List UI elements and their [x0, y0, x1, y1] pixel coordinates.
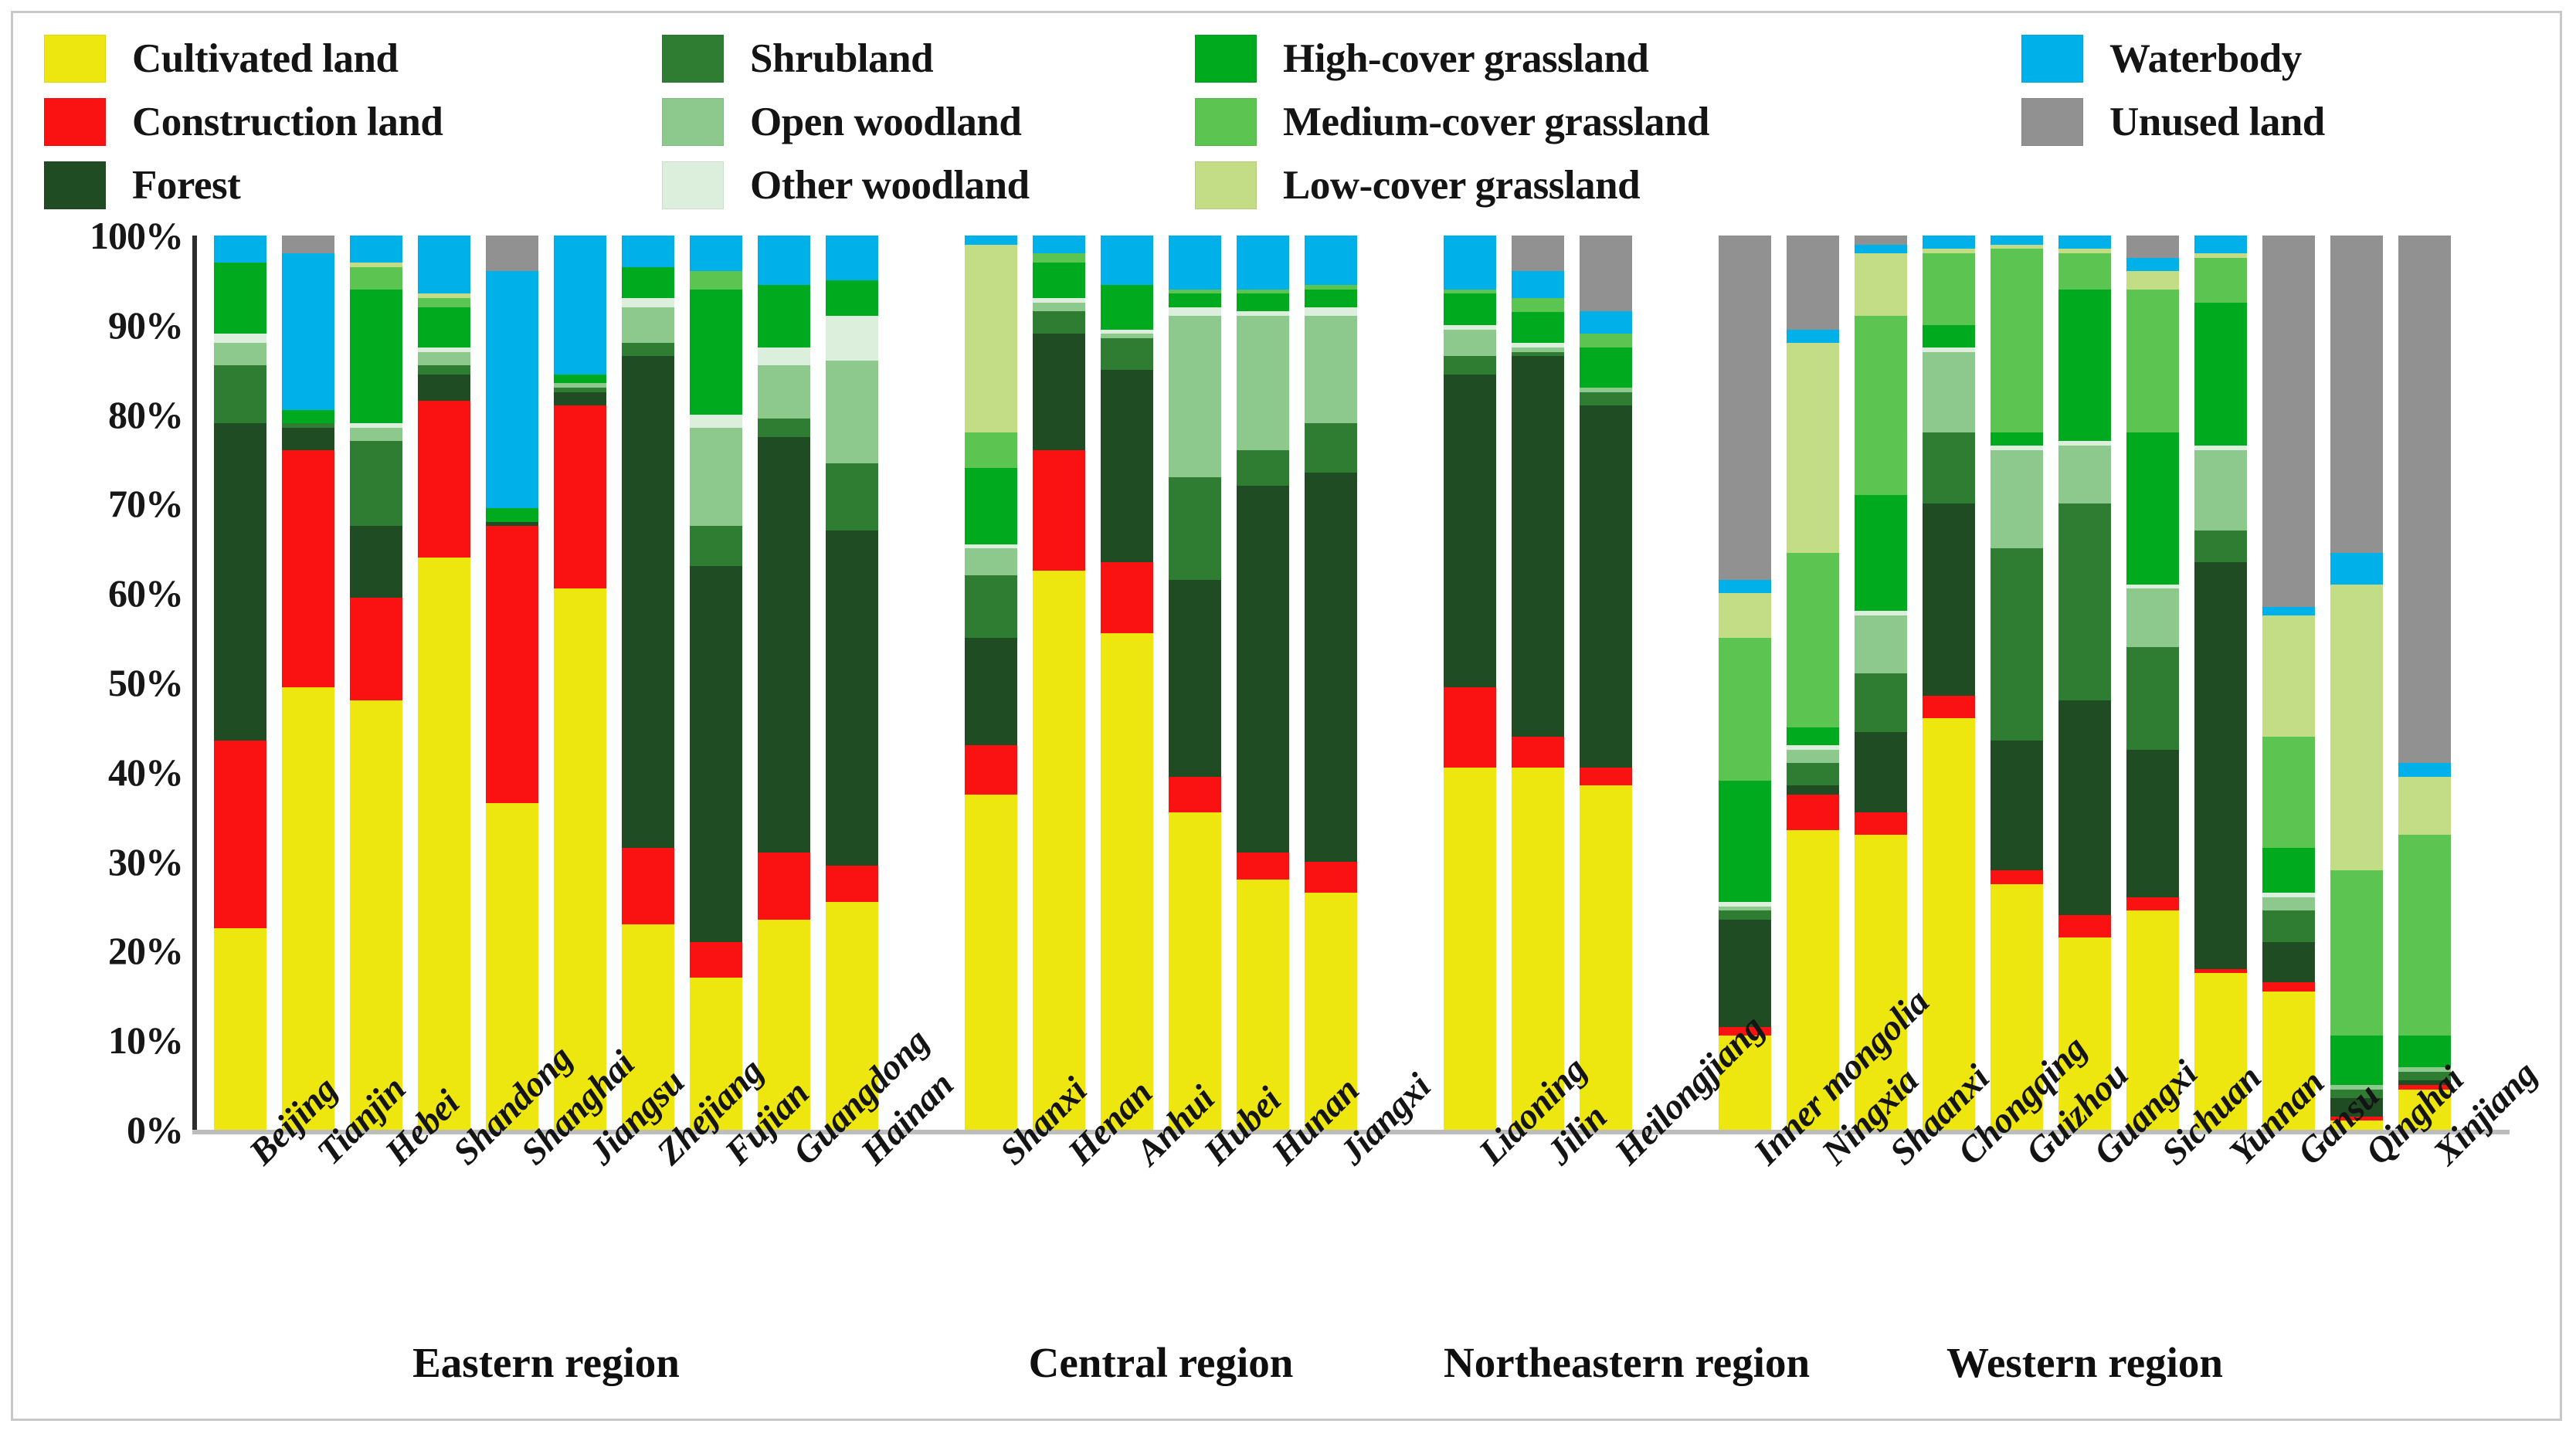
segment-construction	[282, 450, 334, 687]
y-tick-label: 100%	[90, 213, 183, 258]
segment-medium_grass	[2398, 835, 2451, 1036]
segment-water	[2194, 236, 2247, 253]
segment-forest	[350, 526, 402, 598]
bar-ningxia[interactable]	[1787, 236, 1839, 1130]
segment-low_grass	[2126, 271, 2179, 289]
segment-construction	[1923, 696, 1975, 718]
legend-label-unused: Unused land	[2109, 102, 2325, 143]
segment-construction	[1991, 870, 2043, 883]
segment-shrubland	[1580, 392, 1632, 405]
segment-unused	[1855, 236, 1907, 245]
legend-swatch-cultivated	[44, 35, 106, 83]
segment-high_grass	[1305, 290, 1357, 307]
y-tick-label: 60%	[108, 571, 183, 615]
segment-other_woodland	[758, 347, 810, 365]
region-labels: Eastern regionCentral regionNortheastern…	[197, 1338, 2510, 1408]
segment-high_grass	[690, 290, 742, 415]
segment-forest	[1855, 732, 1907, 812]
segment-forest	[622, 356, 674, 848]
segment-shrubland	[1305, 423, 1357, 473]
segment-high_grass	[1169, 293, 1221, 307]
segment-medium_grass	[2058, 253, 2111, 289]
stacked-bars	[197, 236, 2510, 1130]
segment-low_grass	[1787, 343, 1839, 553]
legend-swatch-high_grass	[1195, 35, 1257, 83]
segment-construction	[350, 598, 402, 700]
legend-label-construction: Construction land	[132, 102, 443, 143]
segment-construction	[1444, 687, 1496, 768]
bar-hainan[interactable]	[826, 236, 878, 1130]
segment-water	[486, 271, 538, 508]
segment-shrubland	[1444, 356, 1496, 374]
legend-swatch-other_woodland	[662, 161, 724, 209]
segment-water	[282, 253, 334, 410]
legend-swatch-unused	[2021, 98, 2083, 146]
segment-low_grass	[1855, 253, 1907, 316]
segment-open_woodland	[214, 343, 266, 365]
segment-open_woodland	[2194, 450, 2247, 531]
legend-item-cultivated[interactable]: Cultivated land	[44, 35, 662, 83]
y-tick-label: 20%	[108, 928, 183, 973]
segment-high_grass	[1991, 432, 2043, 446]
y-tick-label: 30%	[108, 839, 183, 884]
segment-low_grass	[1719, 593, 1771, 638]
segment-high_grass	[622, 267, 674, 299]
segment-water	[214, 236, 266, 263]
segment-forest	[1237, 486, 1289, 853]
bar-beijing[interactable]	[214, 236, 266, 1130]
bar-shanghai[interactable]	[486, 236, 538, 1130]
segment-shrubland	[758, 419, 810, 436]
segment-medium_grass	[1991, 249, 2043, 432]
segment-low_grass	[2398, 777, 2451, 835]
segment-water	[2330, 553, 2383, 585]
segment-unused	[1719, 236, 1771, 580]
segment-shrubland	[214, 365, 266, 423]
x-axis-labels: BeijingTianjinHebeiShandongShanghaiJiang…	[197, 1144, 2510, 1321]
segment-medium_grass	[2262, 737, 2315, 849]
segment-forest	[1444, 375, 1496, 687]
segment-low_grass	[2330, 585, 2383, 871]
segment-water	[1305, 236, 1357, 285]
segment-water	[758, 236, 810, 285]
segment-shrubland	[2126, 647, 2179, 750]
legend-label-water: Waterbody	[2109, 39, 2302, 80]
legend-swatch-low_grass	[1195, 161, 1257, 209]
segment-forest	[2194, 562, 2247, 969]
segment-water	[1444, 236, 1496, 289]
segment-medium_grass	[1512, 298, 1564, 311]
segment-construction	[622, 848, 674, 924]
segment-forest	[1033, 334, 1085, 450]
segment-other_woodland	[1305, 307, 1357, 317]
segment-construction	[418, 401, 470, 558]
segment-high_grass	[1719, 781, 1771, 901]
legend-label-cultivated: Cultivated land	[132, 39, 398, 80]
segment-construction	[1101, 562, 1153, 634]
segment-construction	[2126, 897, 2179, 910]
segment-shrubland	[826, 463, 878, 531]
y-tick-label: 80%	[108, 392, 183, 437]
segment-construction	[1512, 737, 1564, 768]
segment-cultivated	[350, 700, 402, 1130]
segment-water	[1787, 330, 1839, 343]
segment-water	[622, 236, 674, 267]
segment-shrubland	[690, 526, 742, 566]
segment-open_woodland	[1444, 330, 1496, 357]
segment-open_woodland	[1305, 316, 1357, 423]
y-tick-label: 70%	[108, 481, 183, 526]
segment-construction	[2058, 915, 2111, 937]
segment-medium_grass	[1923, 253, 1975, 325]
legend-swatch-open_woodland	[662, 98, 724, 146]
segment-open_woodland	[350, 428, 402, 441]
legend-item-shrubland[interactable]: Shrubland	[662, 35, 1195, 83]
segment-medium_grass	[965, 432, 1017, 468]
legend-swatch-medium_grass	[1195, 98, 1257, 146]
segment-medium_grass	[1787, 553, 1839, 727]
segment-high_grass	[1787, 727, 1839, 745]
segment-high_grass	[758, 285, 810, 347]
segment-other_woodland	[690, 415, 742, 428]
legend-label-other_woodland: Other woodland	[750, 165, 1030, 206]
segment-high_grass	[1444, 293, 1496, 325]
legend-item-unused[interactable]: Unused land	[2021, 98, 2454, 146]
segment-water	[350, 236, 402, 263]
segment-high_grass	[2262, 848, 2315, 893]
legend-label-medium_grass: Medium-cover grassland	[1283, 102, 1709, 143]
segment-high_grass	[2194, 303, 2247, 446]
segment-water	[1855, 245, 1907, 254]
segment-shrubland	[418, 365, 470, 375]
segment-shrubland	[1033, 311, 1085, 334]
segment-forest	[2262, 942, 2315, 982]
segment-construction	[486, 526, 538, 803]
segment-construction	[214, 741, 266, 928]
segment-high_grass	[486, 508, 538, 521]
bar-heilongjiang[interactable]	[1580, 236, 1632, 1130]
segment-water	[418, 236, 470, 293]
segment-unused	[2262, 236, 2315, 607]
segment-forest	[214, 423, 266, 741]
segment-forest	[690, 566, 742, 941]
bar-zhejiang[interactable]	[622, 236, 674, 1130]
segment-forest	[1580, 405, 1632, 768]
segment-shrubland	[1923, 432, 1975, 504]
bar-guangdong[interactable]	[758, 236, 810, 1130]
segment-open_woodland	[1033, 303, 1085, 312]
segment-water	[2126, 258, 2179, 271]
segment-shrubland	[1101, 338, 1153, 370]
segment-unused	[1787, 236, 1839, 330]
segment-high_grass	[2058, 290, 2111, 442]
legend-item-other_woodland[interactable]: Other woodland	[662, 161, 1195, 209]
region-label-eastern-region: Eastern region	[214, 1338, 878, 1387]
legend-swatch-construction	[44, 98, 106, 146]
bar-shanxi[interactable]	[965, 236, 1017, 1130]
segment-open_woodland	[1855, 615, 1907, 673]
y-tick-label: 90%	[108, 303, 183, 347]
segment-medium_grass	[2126, 290, 2179, 432]
legend-item-construction[interactable]: Construction land	[44, 98, 662, 146]
segment-high_grass	[554, 375, 606, 384]
legend-item-forest[interactable]: Forest	[44, 161, 662, 209]
segment-open_woodland	[1169, 316, 1221, 476]
region-label-northeastern-region: Northeastern region	[1444, 1338, 1632, 1387]
bar-guizhou[interactable]	[1991, 236, 2043, 1130]
segment-unused	[2398, 236, 2451, 763]
bar-yunnan[interactable]	[2194, 236, 2247, 1130]
segment-medium_grass	[690, 271, 742, 289]
legend-swatch-shrubland	[662, 35, 724, 83]
segment-shrubland	[1855, 673, 1907, 731]
segment-open_woodland	[2262, 897, 2315, 910]
segment-construction	[965, 745, 1017, 795]
plot-area: 0%10%20%30%40%50%60%70%80%90%100% Beijin…	[13, 220, 2564, 1421]
segment-open_woodland	[1923, 352, 1975, 432]
segment-high_grass	[1923, 325, 1975, 347]
segment-high_grass	[1033, 263, 1085, 298]
bar-henan[interactable]	[1033, 236, 1085, 1130]
segment-unused	[486, 236, 538, 271]
segment-water	[1512, 271, 1564, 298]
segment-forest	[2058, 700, 2111, 915]
legend-label-low_grass: Low-cover grassland	[1283, 165, 1640, 206]
segment-forest	[826, 531, 878, 866]
segment-high_grass	[965, 468, 1017, 544]
segment-high_grass	[1101, 285, 1153, 330]
segment-high_grass	[282, 410, 334, 423]
segment-water	[1719, 580, 1771, 593]
segment-construction	[1237, 853, 1289, 880]
segment-water	[2058, 236, 2111, 249]
segment-other_woodland	[214, 334, 266, 343]
segment-shrubland	[1719, 910, 1771, 920]
segment-open_woodland	[758, 365, 810, 419]
segment-cultivated	[418, 558, 470, 1130]
segment-shrubland	[965, 575, 1017, 638]
bar-chongqing[interactable]	[1923, 236, 1975, 1130]
segment-forest	[1305, 473, 1357, 862]
segment-water	[1580, 311, 1632, 334]
legend-item-water[interactable]: Waterbody	[2021, 35, 2454, 83]
legend-label-forest: Forest	[132, 165, 240, 206]
legend-label-high_grass: High-cover grassland	[1283, 39, 1648, 80]
segment-low_grass	[965, 245, 1017, 432]
segment-water	[1991, 236, 2043, 245]
segment-shrubland	[1787, 763, 1839, 785]
segment-unused	[282, 236, 334, 253]
y-axis: 0%10%20%30%40%50%60%70%80%90%100%	[56, 220, 192, 1128]
segment-construction	[1305, 862, 1357, 893]
bar-fujian[interactable]	[690, 236, 742, 1130]
segment-construction	[1787, 795, 1839, 830]
segment-cultivated	[1444, 768, 1496, 1130]
bar-inner-mongolia[interactable]	[1719, 236, 1771, 1130]
bar-jilin[interactable]	[1512, 236, 1564, 1130]
segment-forest	[554, 392, 606, 405]
segment-unused	[1580, 236, 1632, 311]
segment-shrubland	[622, 343, 674, 356]
bar-hebei[interactable]	[350, 236, 402, 1130]
segment-forest	[282, 428, 334, 450]
segment-medium_grass	[1580, 334, 1632, 347]
segment-medium_grass	[1855, 316, 1907, 495]
segment-water	[1101, 236, 1153, 285]
segment-construction	[1855, 812, 1907, 835]
legend-item-medium_grass[interactable]: Medium-cover grassland	[1195, 98, 2021, 146]
segment-high_grass	[1512, 312, 1564, 344]
segment-cultivated	[1033, 571, 1085, 1130]
segment-shrubland	[1991, 548, 2043, 741]
segment-water	[1923, 236, 1975, 249]
segment-construction	[1169, 777, 1221, 812]
segment-construction	[758, 853, 810, 920]
segment-medium_grass	[2194, 258, 2247, 303]
legend-item-high_grass[interactable]: High-cover grassland	[1195, 35, 2021, 83]
segment-other_woodland	[622, 298, 674, 307]
legend-swatch-forest	[44, 161, 106, 209]
y-tick-label: 0%	[127, 1107, 183, 1152]
segment-forest	[1512, 356, 1564, 736]
segment-unused	[1512, 236, 1564, 271]
segment-construction	[1033, 450, 1085, 571]
y-tick-label: 40%	[108, 750, 183, 795]
chart-legend: Cultivated landConstruction landForestSh…	[44, 27, 2531, 216]
segment-open_woodland	[690, 428, 742, 526]
segment-medium_grass	[350, 267, 402, 290]
bar-guangxi[interactable]	[2058, 236, 2111, 1130]
segment-forest	[1169, 580, 1221, 777]
segment-high_grass	[1580, 347, 1632, 388]
segment-water	[2262, 607, 2315, 616]
segment-open_woodland	[418, 352, 470, 365]
legend-item-open_woodland[interactable]: Open woodland	[662, 98, 1195, 146]
segment-open_woodland	[1787, 750, 1839, 763]
segment-open_woodland	[826, 361, 878, 463]
segment-forest	[1923, 503, 1975, 696]
segment-cultivated	[282, 687, 334, 1130]
segment-high_grass	[418, 307, 470, 347]
segment-water	[1169, 236, 1221, 289]
legend-swatch-water	[2021, 35, 2083, 83]
bar-hubei[interactable]	[1169, 236, 1221, 1130]
segment-shrubland	[2058, 503, 2111, 700]
bar-gansu[interactable]	[2262, 236, 2315, 1130]
segment-construction	[2262, 982, 2315, 992]
segment-water	[1033, 236, 1085, 253]
legend-label-open_woodland: Open woodland	[750, 102, 1021, 143]
segment-water	[690, 236, 742, 271]
segment-low_grass	[2262, 615, 2315, 736]
segment-high_grass	[1237, 293, 1289, 311]
region-label-western-region: Western region	[1719, 1338, 2451, 1387]
segment-forest	[418, 375, 470, 402]
bar-shandong[interactable]	[418, 236, 470, 1130]
bar-anhui[interactable]	[1101, 236, 1153, 1130]
segment-other_woodland	[826, 316, 878, 361]
segment-construction	[1580, 768, 1632, 785]
segment-medium_grass	[418, 298, 470, 307]
legend-label-shrubland: Shrubland	[750, 39, 933, 80]
segment-water	[1237, 236, 1289, 289]
segment-other_woodland	[1169, 307, 1221, 317]
segment-construction	[690, 942, 742, 978]
segment-forest	[2126, 750, 2179, 897]
segment-water	[965, 236, 1017, 245]
segment-medium_grass	[1033, 253, 1085, 263]
segment-cultivated	[965, 795, 1017, 1130]
segment-construction	[826, 866, 878, 901]
segment-high_grass	[214, 263, 266, 334]
bar-tianjin[interactable]	[282, 236, 334, 1130]
segment-shrubland	[350, 441, 402, 526]
segment-shrubland	[2194, 531, 2247, 562]
bar-jiangxi[interactable]	[1305, 236, 1357, 1130]
segment-water	[826, 236, 878, 280]
segment-construction	[554, 405, 606, 588]
segment-shrubland	[1237, 450, 1289, 486]
bar-xinjiang[interactable]	[2398, 236, 2451, 1130]
bar-hunan[interactable]	[1237, 236, 1289, 1130]
segment-open_woodland	[1991, 450, 2043, 548]
segment-open_woodland	[2126, 588, 2179, 646]
segment-cultivated	[214, 928, 266, 1130]
segment-high_grass	[2126, 432, 2179, 585]
segment-shrubland	[1169, 477, 1221, 580]
segment-open_woodland	[965, 548, 1017, 575]
y-tick-label: 10%	[108, 1018, 183, 1063]
segment-open_woodland	[1237, 316, 1289, 450]
segment-forest	[1991, 741, 2043, 870]
legend-item-low_grass[interactable]: Low-cover grassland	[1195, 161, 2021, 209]
region-label-central-region: Central region	[965, 1338, 1357, 1387]
segment-open_woodland	[622, 307, 674, 343]
bar-qinghai[interactable]	[2330, 236, 2383, 1130]
segment-water	[554, 236, 606, 374]
segment-shrubland	[2262, 910, 2315, 942]
chart-frame: Cultivated landConstruction landForestSh…	[11, 11, 2562, 1421]
segment-high_grass	[1855, 495, 1907, 612]
segment-high_grass	[826, 280, 878, 316]
segment-medium_grass	[1719, 638, 1771, 781]
segment-forest	[758, 437, 810, 853]
bar-jiangsu[interactable]	[554, 236, 606, 1130]
segment-forest	[1101, 370, 1153, 562]
segment-cultivated	[1101, 633, 1153, 1130]
segment-forest	[965, 638, 1017, 745]
segment-forest	[1787, 785, 1839, 795]
segment-high_grass	[350, 290, 402, 424]
y-tick-label: 50%	[108, 660, 183, 705]
segment-unused	[2330, 236, 2383, 553]
segment-medium_grass	[2330, 870, 2383, 1036]
segment-unused	[2126, 236, 2179, 258]
bar-liaoning[interactable]	[1444, 236, 1496, 1130]
segment-open_woodland	[2058, 446, 2111, 503]
bar-sichuan[interactable]	[2126, 236, 2179, 1130]
segment-water	[2398, 763, 2451, 776]
